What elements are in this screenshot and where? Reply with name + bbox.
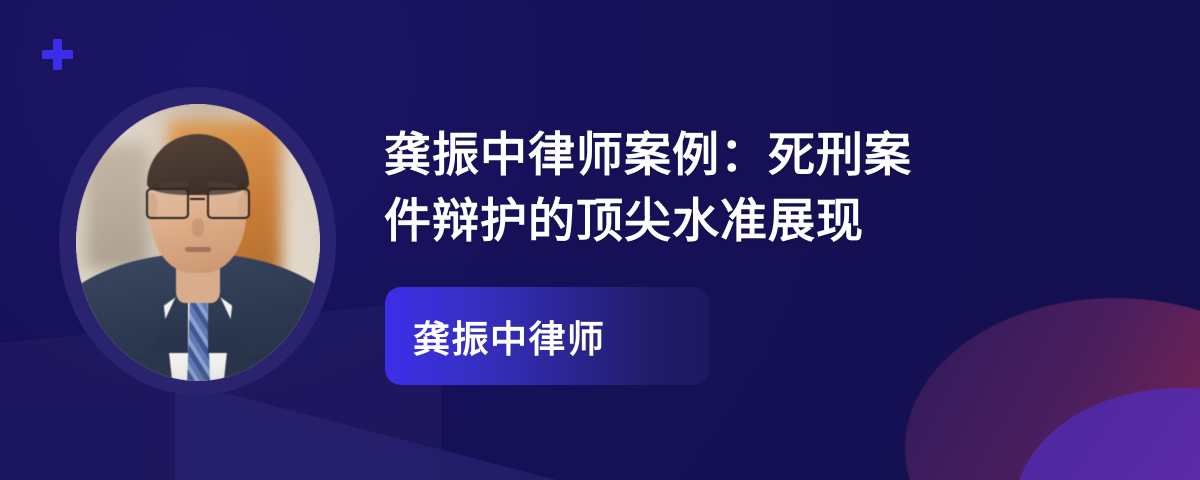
plus-icon-vertical-bar (53, 39, 62, 70)
author-badge-label: 龚振中律师 (385, 309, 606, 363)
decorative-polygon-corner (0, 392, 150, 480)
portrait-softening-overlay (76, 104, 320, 381)
page-title-line-2: 件辩护的顶尖水准展现 (384, 188, 1064, 254)
page-title-line-1: 龚振中律师案例：死刑案 (384, 122, 1064, 188)
avatar-ring (59, 87, 336, 395)
page-title: 龚振中律师案例：死刑案 件辩护的顶尖水准展现 (384, 122, 1064, 254)
article-cover-banner: 龚振中律师案例：死刑案 件辩护的顶尖水准展现 龚振中律师 (0, 0, 1200, 480)
avatar (76, 104, 320, 381)
plus-icon (42, 39, 73, 70)
author-badge[interactable]: 龚振中律师 (385, 287, 710, 385)
